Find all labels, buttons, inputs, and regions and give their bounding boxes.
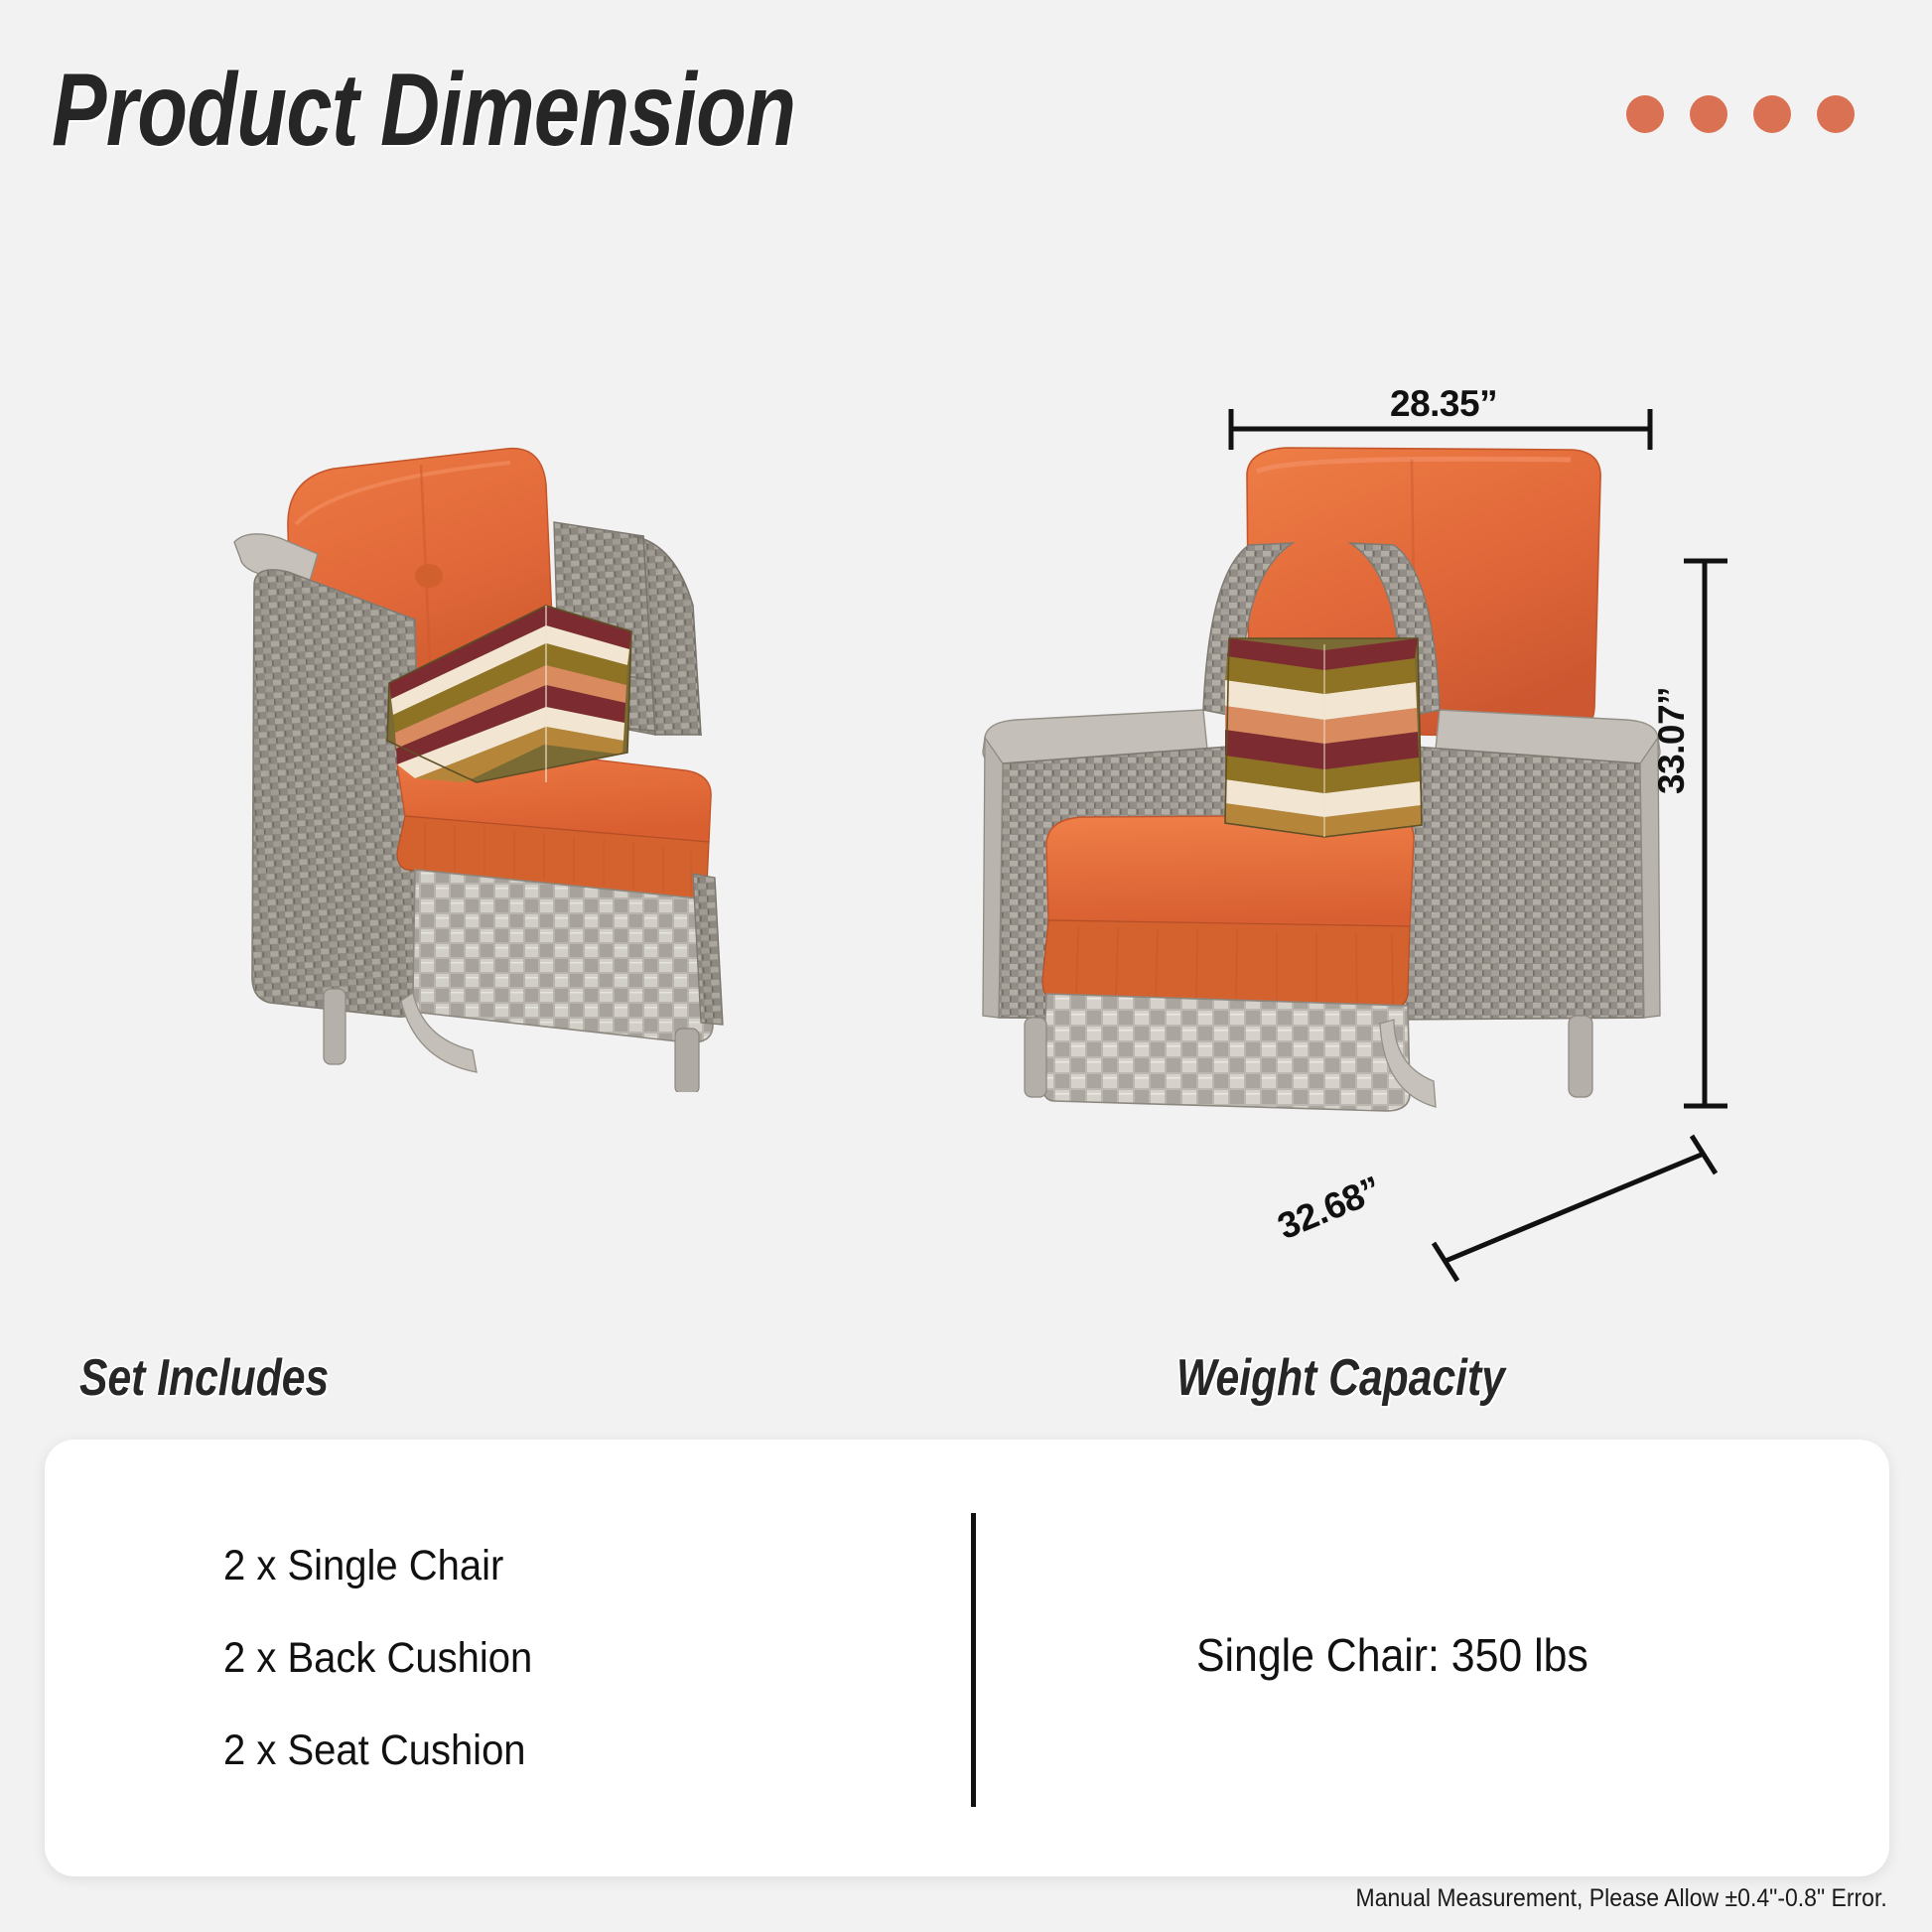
list-item: 2 x Seat Cushion [223, 1726, 532, 1775]
dimension-label-width: 28.35” [1390, 383, 1497, 425]
product-image-chair-left [226, 437, 882, 1092]
decorative-dots-group [1626, 95, 1855, 133]
decor-dot-1 [1626, 95, 1664, 133]
decor-dot-4 [1817, 95, 1855, 133]
front-base-panel-right [1042, 994, 1410, 1111]
seat-cushion-right [1042, 815, 1414, 1010]
decor-dot-3 [1753, 95, 1791, 133]
list-item: 2 x Single Chair [223, 1542, 532, 1590]
page-title: Product Dimension [52, 52, 795, 170]
dimension-label-depth: 32.68” [1272, 1169, 1387, 1248]
throw-pillow-right [1225, 638, 1422, 837]
section-heading-weight-capacity: Weight Capacity [1176, 1348, 1505, 1408]
dimension-line-depth [1434, 1136, 1716, 1281]
front-base-panel-left [413, 870, 713, 1042]
measurement-disclaimer: Manual Measurement, Please Allow ±0.4"-0… [1356, 1884, 1887, 1913]
card-vertical-divider [971, 1513, 976, 1807]
product-image-chair-right [959, 422, 1684, 1117]
weight-capacity-value: Single Chair: 350 lbs [1196, 1628, 1588, 1682]
dimension-label-height: 33.07” [1651, 687, 1693, 794]
section-heading-set-includes: Set Includes [79, 1348, 329, 1408]
dimension-line-height [1684, 561, 1727, 1106]
list-item: 2 x Back Cushion [223, 1634, 532, 1683]
decor-dot-2 [1690, 95, 1727, 133]
set-includes-list: 2 x Single Chair 2 x Back Cushion 2 x Se… [223, 1542, 556, 1775]
product-dimension-infographic: Product Dimension [0, 0, 1932, 1932]
